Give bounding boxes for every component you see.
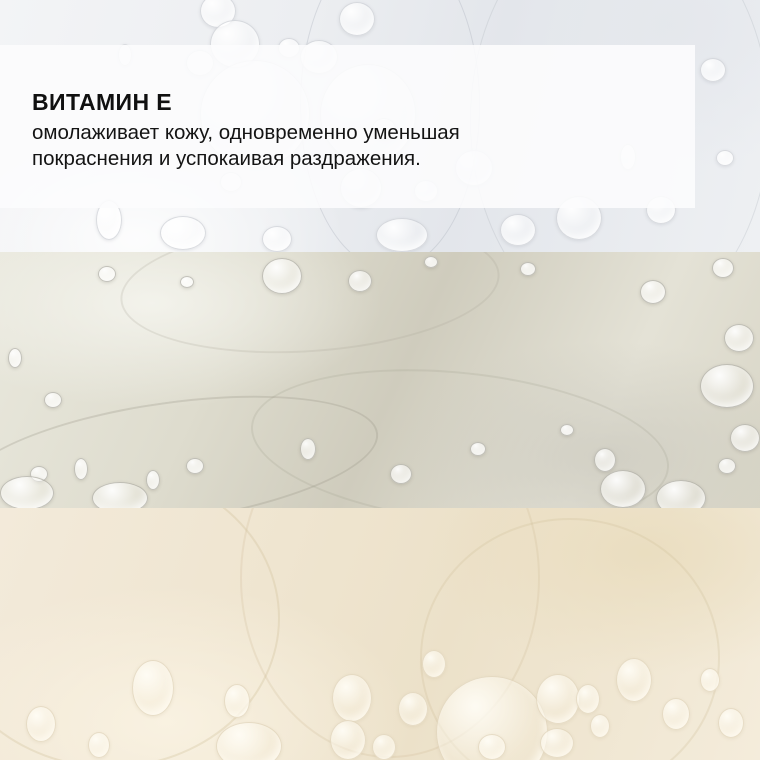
cream-bubbles-background-image: [0, 508, 760, 760]
serum-gel-background-image: [0, 252, 760, 508]
section-vitamin-e: ВИТАМИН Е омолаживает кожу, одновременно…: [0, 0, 760, 252]
section-glycerin: ГЛИЦЕРИН сохраняет кожу здоровой и увлаж…: [0, 252, 760, 508]
ingredient-benefits-infographic: ВИТАМИН Е омолаживает кожу, одновременно…: [0, 0, 760, 760]
section-allantoin: АЛЛАНТОИН способствует очищению пор и ум…: [0, 508, 760, 760]
vitamin-e-title: ВИТАМИН Е: [32, 91, 172, 114]
vitamin-e-description: омолаживает кожу, одновременно уменьшая …: [32, 120, 460, 172]
